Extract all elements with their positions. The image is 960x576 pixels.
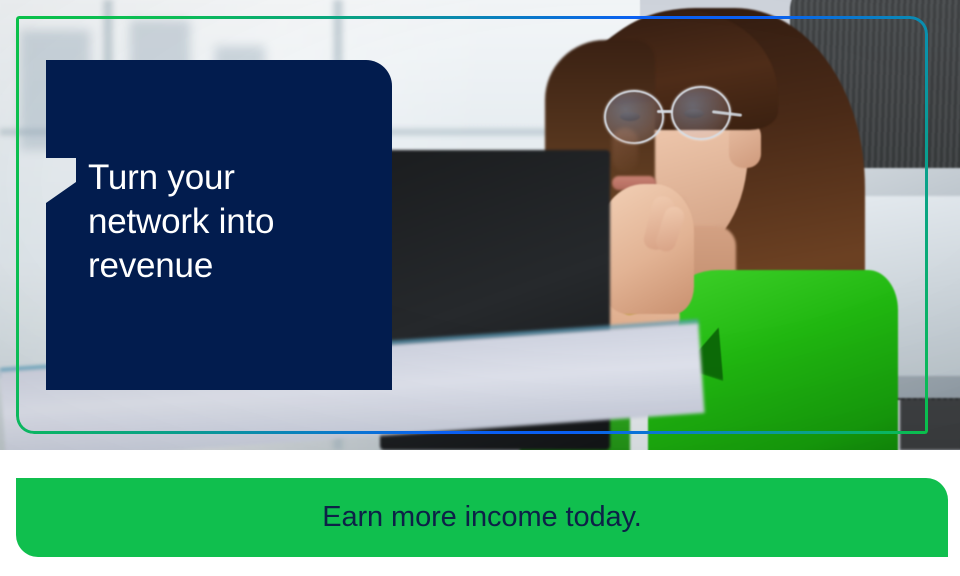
headline-callout-card	[46, 60, 392, 390]
promo-banner: Turn your network into revenue Earn more…	[0, 0, 960, 576]
cta-bar[interactable]: Earn more income today.	[16, 478, 948, 557]
cta-label: Earn more income today.	[322, 501, 642, 534]
